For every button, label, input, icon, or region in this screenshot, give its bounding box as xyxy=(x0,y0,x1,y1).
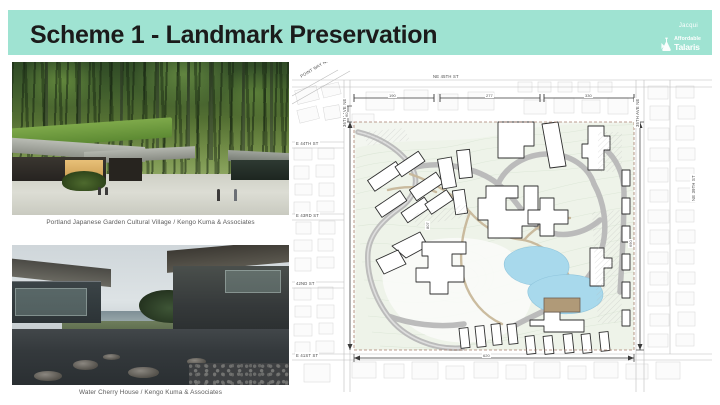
photo-2-image xyxy=(12,245,289,385)
street-label-ne-39th-st: NE 39TH ST xyxy=(690,174,696,202)
site-plan: POINT WAY NE NE 45TH ST 36TH AVE NE 35TH… xyxy=(292,62,712,392)
right-pavilion-glazing xyxy=(225,270,280,292)
brand-wordmark: Affordable Talaris xyxy=(674,37,701,51)
site-plan-drawing xyxy=(292,62,712,392)
photo-portland-japanese-garden: Portland Japanese Garden Cultural Villag… xyxy=(12,62,289,215)
brand-line-talaris: Talaris xyxy=(674,43,701,52)
left-pavilion-glazing xyxy=(15,288,87,316)
photo-1-caption: Portland Japanese Garden Cultural Villag… xyxy=(12,219,289,226)
street-label-e-43rd-st: E 43RD ST xyxy=(295,212,320,218)
brand-logo: Affordable Talaris xyxy=(661,37,701,51)
pavilion-shadow xyxy=(109,158,142,181)
photo-water-cherry-house: Water Cherry House / Kengo Kuma & Associ… xyxy=(12,245,289,385)
photo-2-caption: Water Cherry House / Kengo Kuma & Associ… xyxy=(12,389,289,396)
dimension-690: 690 xyxy=(628,239,633,248)
street-label-e-44th-st: E 44TH ST xyxy=(295,140,320,146)
street-label-35th-ave-ne: 35TH AVE NE xyxy=(634,98,640,128)
dimension-277: 277 xyxy=(485,93,494,98)
photo-1-image xyxy=(12,62,289,215)
gravel-edge xyxy=(189,363,289,385)
pavilion-right xyxy=(231,160,289,180)
street-label-ne-45th-st: NE 45TH ST xyxy=(432,73,460,79)
dimension-620: 620 xyxy=(482,353,491,358)
preserved-landmark-building xyxy=(544,298,580,312)
talaris-flask-icon xyxy=(661,37,672,51)
street-label-e-41st-st: E 41ST ST xyxy=(295,352,319,358)
dimension-190: 190 xyxy=(388,93,397,98)
street-label-42nd-st: 42ND ST xyxy=(295,280,316,286)
dimension-330: 330 xyxy=(584,93,593,98)
page-title: Scheme 1 - Landmark Preservation xyxy=(30,21,437,50)
dimension-807: 807 xyxy=(425,221,430,230)
dimension-60: 60 xyxy=(344,112,349,118)
presenter-name: Jacqui xyxy=(679,23,698,29)
slide-root: Jacqui Affordable Talaris Scheme 1 - Lan… xyxy=(0,0,720,405)
